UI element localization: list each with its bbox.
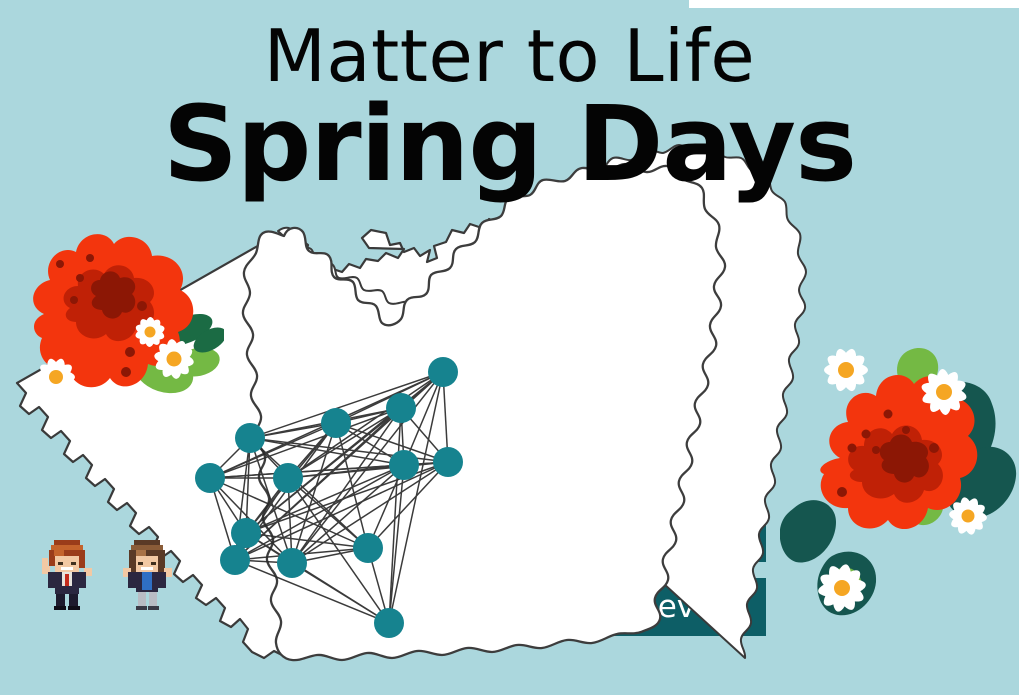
flower-cluster-right [780, 330, 1019, 630]
germany-map-visible [243, 164, 725, 660]
flower-cluster-left [14, 222, 224, 412]
network-node[interactable] [389, 450, 419, 480]
female-character [123, 540, 172, 610]
network-node[interactable] [220, 545, 250, 575]
pixel-art-characters [34, 534, 184, 614]
poster-canvas: Matter to Life Spring Days Poster Sessio… [0, 0, 1019, 695]
network-node[interactable] [374, 608, 404, 638]
network-node[interactable] [277, 548, 307, 578]
network-node[interactable] [231, 518, 261, 548]
network-node[interactable] [433, 447, 463, 477]
network-node[interactable] [386, 393, 416, 423]
network-node[interactable] [353, 533, 383, 563]
male-character-thumbs-up [42, 540, 92, 610]
network-node[interactable] [273, 463, 303, 493]
network-node[interactable] [235, 423, 265, 453]
network-node[interactable] [195, 463, 225, 493]
network-node[interactable] [428, 357, 458, 387]
network-node[interactable] [321, 408, 351, 438]
